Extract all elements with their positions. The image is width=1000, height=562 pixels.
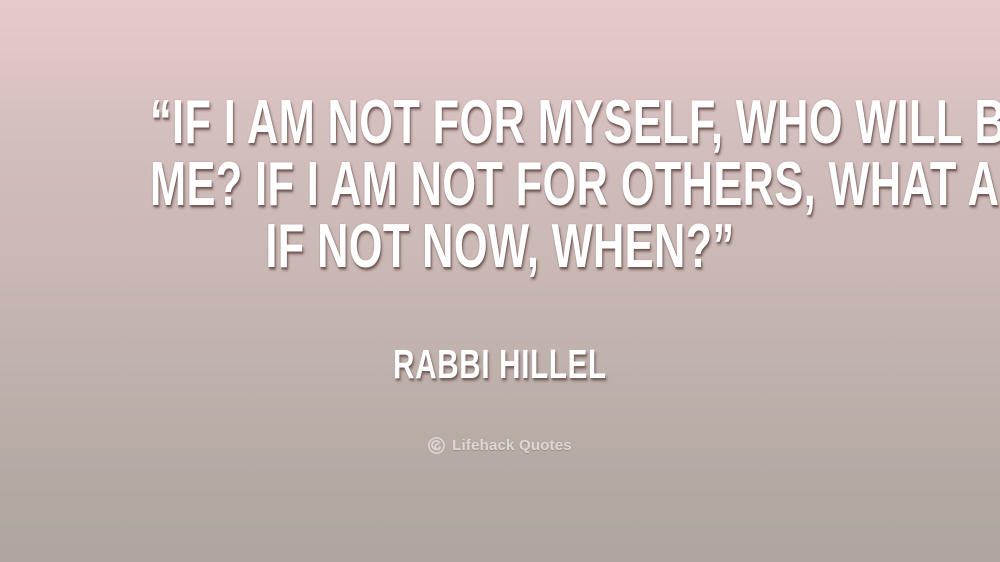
- brand-name: Lifehack Quotes: [452, 437, 572, 454]
- quote-line: “IF I AM NOT FOR MYSELF, WHO WILL BE FOR: [150, 92, 850, 154]
- quote-line: ME? IF I AM NOT FOR OTHERS, WHAT AM I? A…: [150, 154, 850, 216]
- lifehack-logo-icon: [428, 437, 445, 454]
- quote-card: “IF I AM NOT FOR MYSELF, WHO WILL BE FOR…: [0, 0, 1000, 562]
- quote-line: IF NOT NOW, WHEN?”: [150, 216, 850, 278]
- brand-watermark: Lifehack Quotes: [0, 437, 1000, 454]
- quote-text: “IF I AM NOT FOR MYSELF, WHO WILL BE FOR…: [0, 92, 1000, 278]
- quote-author: RABBI HILLEL: [140, 344, 860, 385]
